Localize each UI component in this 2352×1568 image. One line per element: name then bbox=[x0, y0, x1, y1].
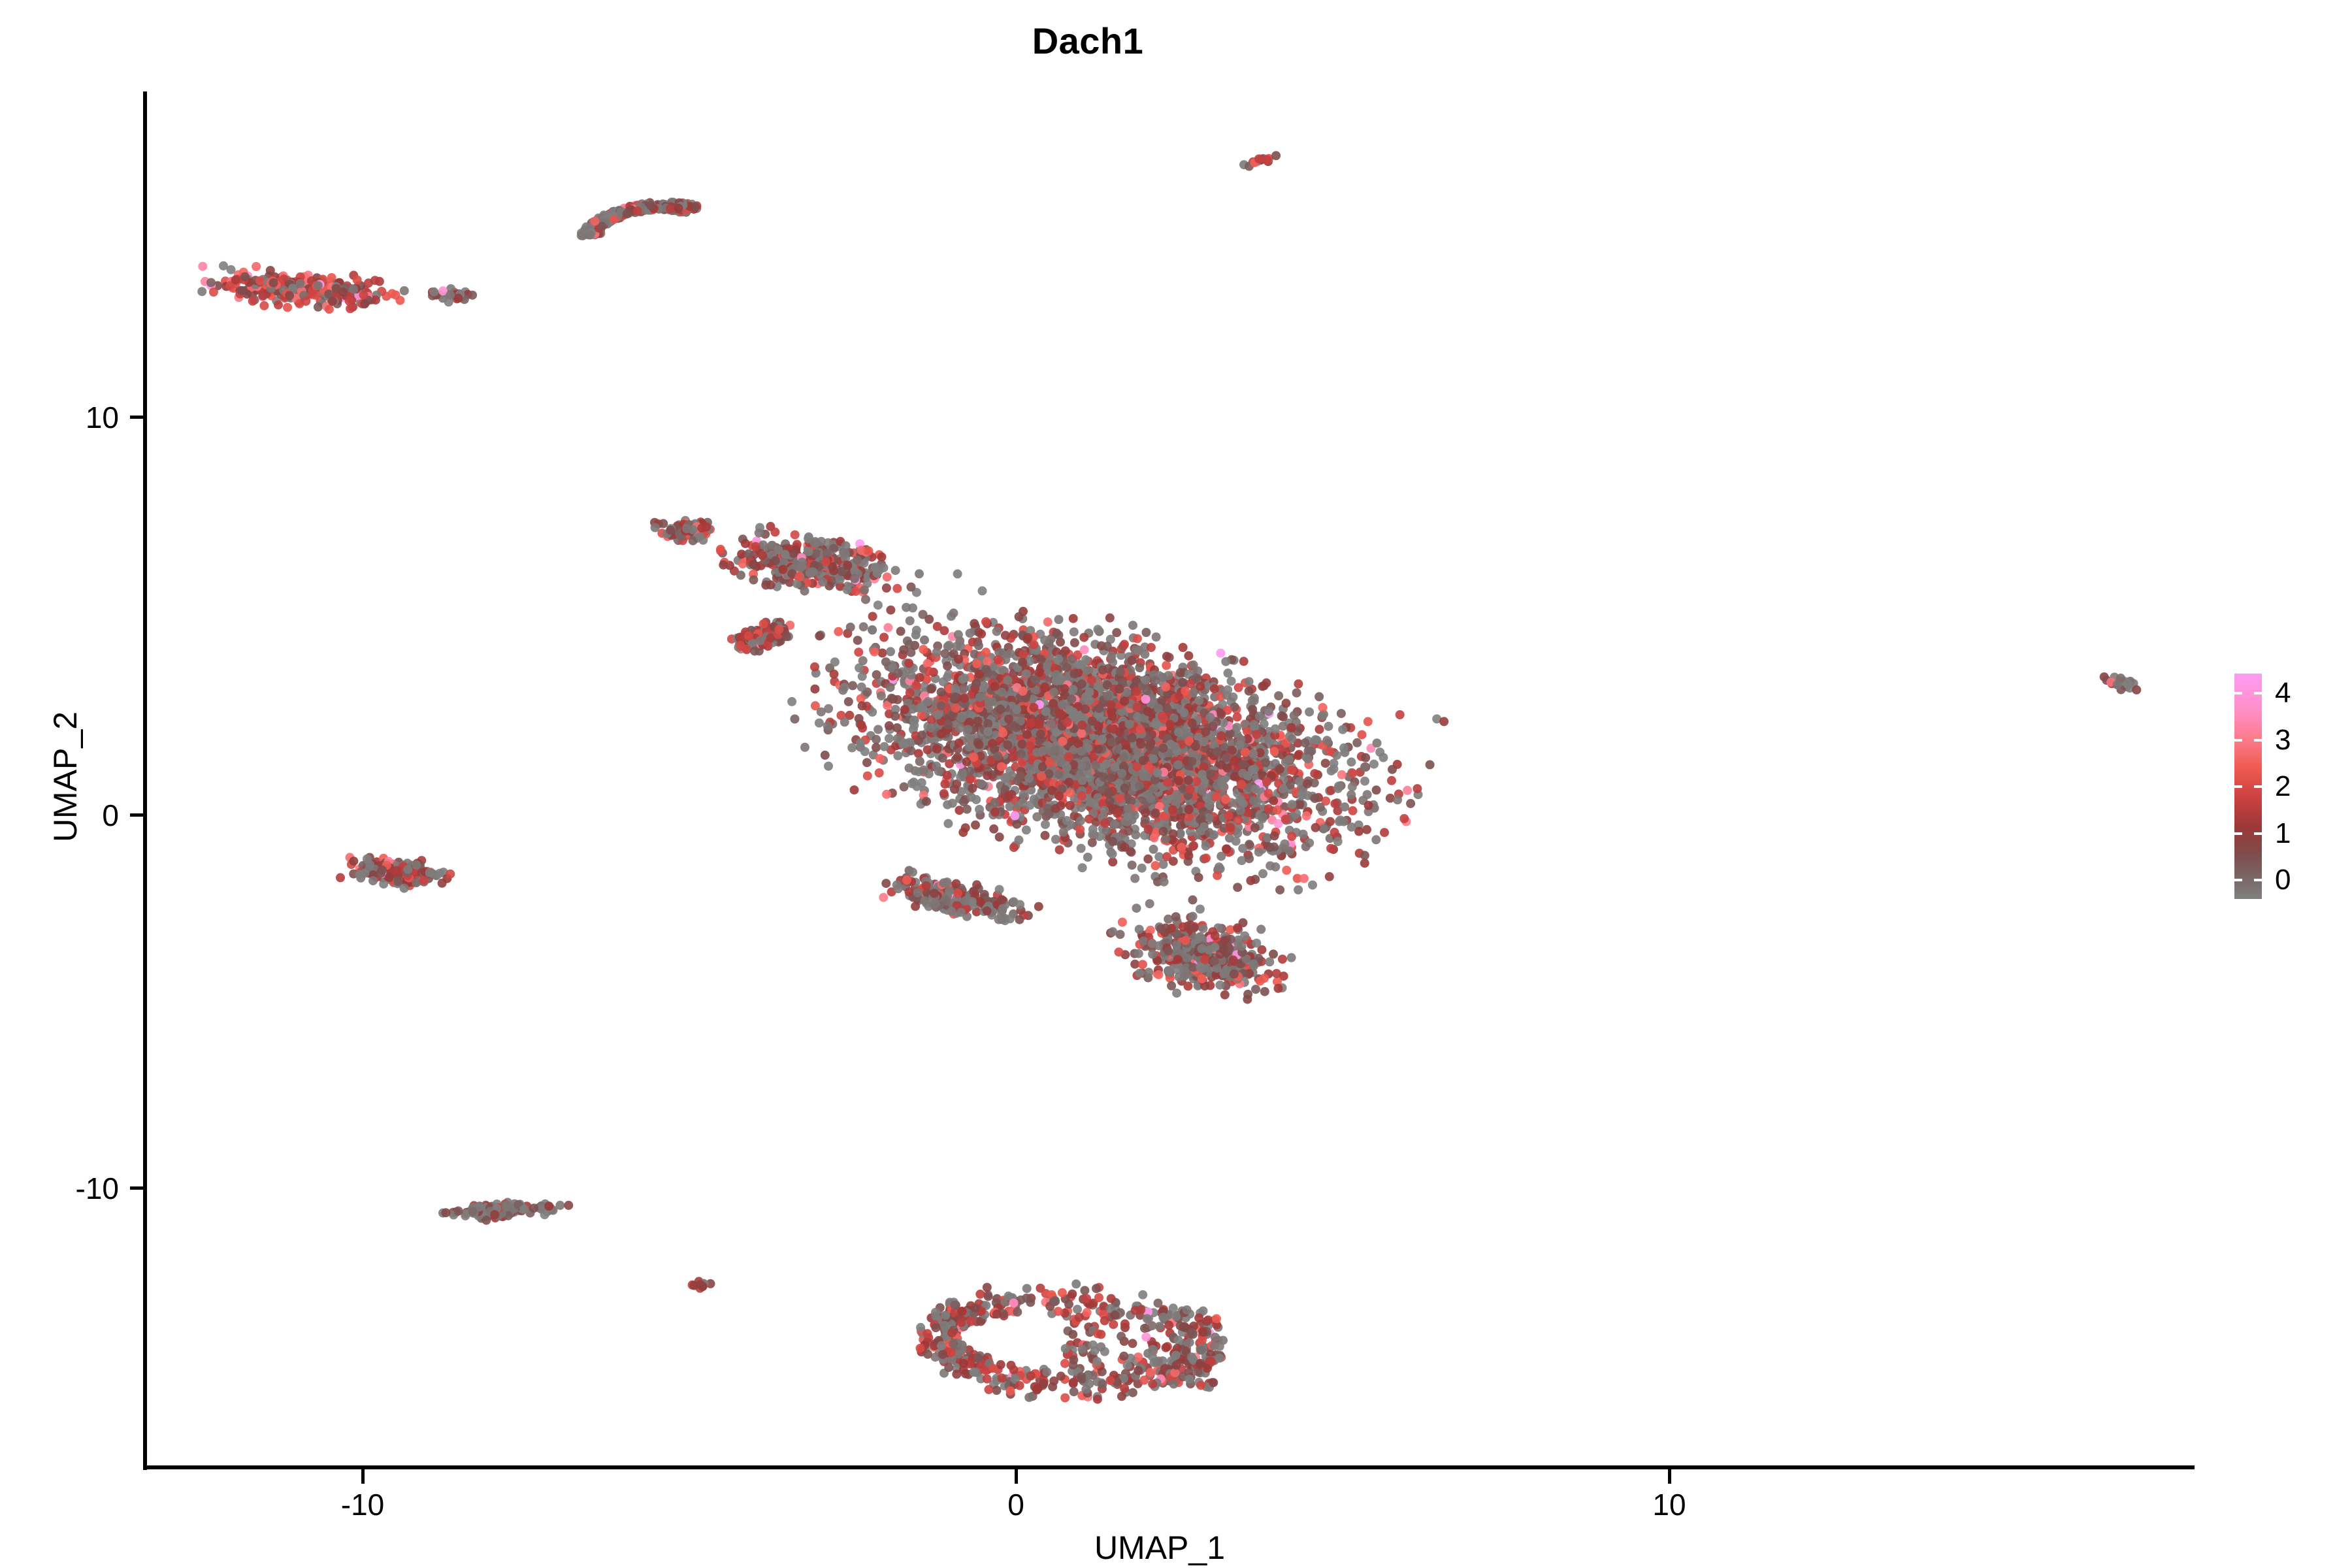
y-axis-line bbox=[143, 91, 147, 1470]
x-axis-label: UMAP_1 bbox=[144, 1529, 2176, 1567]
y-tick-label-0: 0 bbox=[102, 798, 119, 833]
x-tick-mark-0 bbox=[1015, 1469, 1018, 1484]
y-tick-mark-0 bbox=[130, 813, 143, 817]
y-tick-mark-10 bbox=[130, 416, 143, 419]
figure-canvas: Dach1 10 0 -10 -10 0 10 UMAP_1 UMAP_2 4 … bbox=[0, 0, 2352, 1568]
x-tick-mark-10 bbox=[1668, 1469, 1671, 1484]
y-tick-label-10: 10 bbox=[86, 400, 119, 435]
x-tick-label-10: 10 bbox=[1652, 1487, 1686, 1522]
colorbar-label-3: 3 bbox=[2275, 726, 2291, 755]
x-axis-line bbox=[143, 1465, 2195, 1469]
x-tick-mark-neg10 bbox=[361, 1469, 365, 1484]
x-tick-label-0: 0 bbox=[1007, 1487, 1024, 1522]
colorbar-label-1: 1 bbox=[2275, 819, 2291, 848]
page-title: Dach1 bbox=[0, 20, 2176, 62]
scatter-plot-panel[interactable] bbox=[144, 91, 2176, 1467]
y-tick-mark-neg10 bbox=[130, 1186, 143, 1190]
colorbar-gradient bbox=[2234, 674, 2262, 899]
colorbar-label-0: 0 bbox=[2275, 866, 2291, 894]
y-axis-label: UMAP_2 bbox=[46, 91, 84, 1463]
color-legend[interactable]: 4 3 2 1 0 bbox=[2234, 674, 2339, 899]
colorbar-label-4: 4 bbox=[2275, 679, 2291, 708]
scatter-points-layer bbox=[144, 91, 2176, 1467]
colorbar-label-2: 2 bbox=[2275, 772, 2291, 801]
x-tick-label-neg10: -10 bbox=[341, 1487, 384, 1522]
